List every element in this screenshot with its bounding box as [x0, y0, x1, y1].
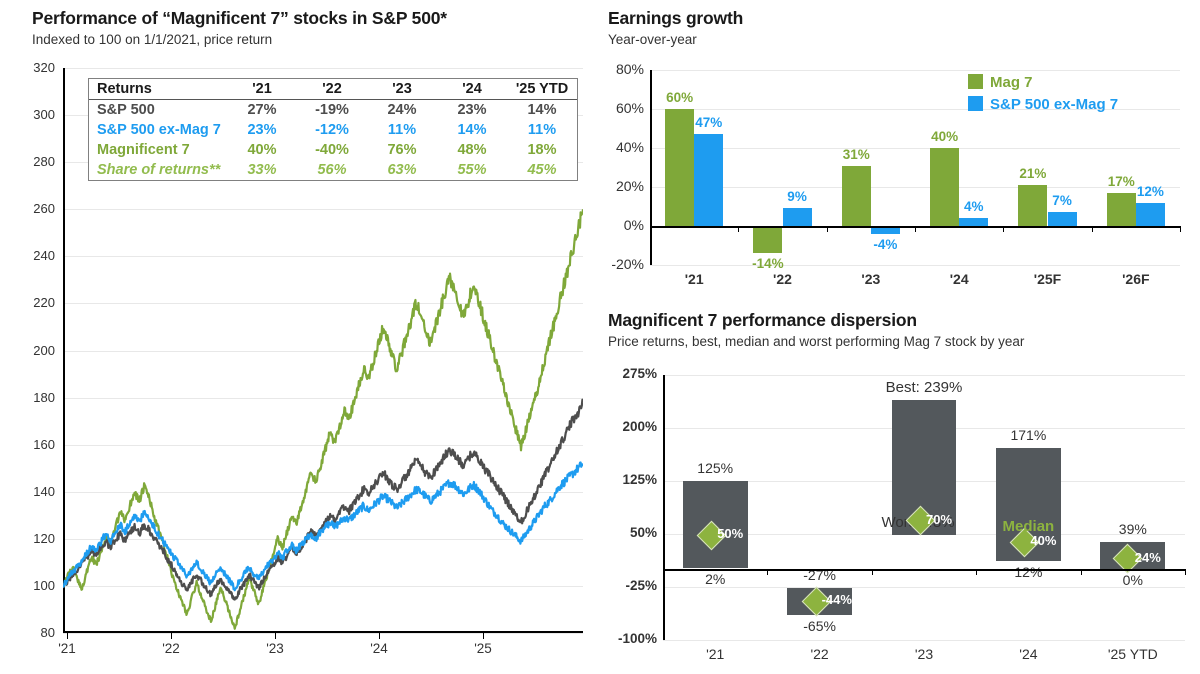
y-axis-tick-label: 60% [600, 100, 644, 116]
best-value-label: Best: 239% [886, 379, 963, 396]
bar-value-label: 9% [787, 189, 807, 204]
y-axis-tick-label: -100% [605, 631, 657, 646]
x-axis-tick [379, 633, 380, 639]
bar-mag-7 [842, 166, 871, 226]
median-callout-label: Median [1003, 518, 1055, 535]
cell: -12% [297, 120, 367, 140]
bar-value-label: 7% [1052, 193, 1072, 208]
y-axis-tick-label: 80 [13, 625, 55, 640]
cell: 63% [367, 160, 437, 180]
y-axis-tick-label: 275% [605, 366, 657, 381]
col-header-21: '21 [227, 79, 297, 100]
cell: 23% [437, 100, 507, 121]
y-axis-tick-label: 20% [600, 178, 644, 194]
cell: 14% [507, 100, 577, 121]
cell: 18% [507, 140, 577, 160]
row-label-sp500: S&P 500 [89, 100, 227, 121]
best-value-label: 171% [1010, 427, 1046, 443]
bar-value-label: 40% [931, 129, 958, 144]
col-header-returns: Returns [89, 79, 227, 100]
best-value-label: 39% [1119, 521, 1147, 537]
y-axis-tick-label: 240 [13, 248, 55, 263]
row-label-magnificent-7: Magnificent 7 [89, 140, 227, 160]
bar-value-label: 31% [843, 147, 870, 162]
y-axis-tick-label: 50% [605, 525, 657, 540]
bar-value-label: -14% [752, 256, 784, 271]
x-axis-tick-label: '22 [773, 271, 792, 287]
cell: 24% [367, 100, 437, 121]
left-chart-subtitle: Indexed to 100 on 1/1/2021, price return [32, 32, 272, 47]
y-axis-tick-label: 320 [13, 60, 55, 75]
bar-s-p-500-ex-mag-7 [783, 208, 812, 226]
bar-value-label: 17% [1108, 174, 1135, 189]
x-axis-tick [1185, 569, 1186, 575]
table-row: Magnificent 7 40% -40% 76% 48% 18% [89, 140, 577, 160]
cell: 76% [367, 140, 437, 160]
earnings-chart-title: Earnings growth [608, 8, 743, 29]
y-gridline [63, 633, 583, 634]
worst-value-label: -65% [803, 618, 836, 634]
x-axis-tick-label: '22 [810, 646, 828, 662]
cell: 56% [297, 160, 367, 180]
x-axis-tick [483, 633, 484, 639]
row-label-sp500-ex-mag7: S&P 500 ex-Mag 7 [89, 120, 227, 140]
median-value-label: -44% [822, 592, 852, 607]
col-header-23: '23 [367, 79, 437, 100]
chart-legend: Mag 7S&P 500 ex-Mag 7 [968, 72, 1118, 116]
bar-mag-7 [930, 148, 959, 226]
median-value-label: 24% [1135, 550, 1161, 565]
y-axis-tick-label: 220 [13, 295, 55, 310]
y-gridline [650, 265, 1180, 266]
bar-value-label: 4% [964, 199, 984, 214]
legend-swatch [968, 96, 983, 111]
worst-value-label: 0% [1123, 572, 1143, 588]
bar-s-p-500-ex-mag-7 [959, 218, 988, 226]
y-gridline [663, 587, 1185, 588]
dispersion-panel: Magnificent 7 performance dispersion Pri… [600, 300, 1200, 674]
earnings-growth-plot: -20%0%20%40%60%80%'2160%47%'22-14%9%'233… [650, 70, 1180, 265]
legend-label: Mag 7 [990, 74, 1033, 91]
x-axis-tick-label: '25 [474, 641, 492, 656]
earnings-chart-subtitle: Year-over-year [608, 32, 697, 47]
cell: 11% [367, 120, 437, 140]
x-axis-tick-label: '24 [370, 641, 388, 656]
y-axis-tick-label: 0% [600, 217, 644, 233]
y-axis-tick-label: 140 [13, 484, 55, 499]
col-header-24: '24 [437, 79, 507, 100]
cell: -40% [297, 140, 367, 160]
x-axis-tick [1180, 226, 1181, 232]
cell: 14% [437, 120, 507, 140]
y-axis-tick-label: 100 [13, 578, 55, 593]
x-axis-tick-label: '22 [162, 641, 180, 656]
bar-mag-7 [665, 109, 694, 226]
cell: 40% [227, 140, 297, 160]
col-header-22: '22 [297, 79, 367, 100]
y-axis-tick-label: 300 [13, 107, 55, 122]
cell: 11% [507, 120, 577, 140]
cell: 27% [227, 100, 297, 121]
legend-item: Mag 7 [968, 72, 1118, 94]
x-axis-tick-label: '25 YTD [1108, 646, 1158, 662]
bar-value-label: 60% [666, 90, 693, 105]
cell: 48% [437, 140, 507, 160]
y-gridline [650, 70, 1180, 71]
bar-value-label: 12% [1137, 184, 1164, 199]
left-chart-title: Performance of “Magnificent 7” stocks in… [32, 8, 447, 29]
x-axis-tick-label: '23 [266, 641, 284, 656]
legend-item: S&P 500 ex-Mag 7 [968, 94, 1118, 116]
y-axis-tick-label: -25% [605, 578, 657, 593]
bar-s-p-500-ex-mag-7 [694, 134, 723, 226]
bar-s-p-500-ex-mag-7 [1048, 212, 1077, 226]
x-axis-tick-label: '21 [685, 271, 704, 287]
earnings-growth-panel: Earnings growth Year-over-year -20%0%20%… [600, 0, 1200, 300]
x-axis-tick-label: '21 [706, 646, 724, 662]
y-axis-tick-label: -20% [600, 256, 644, 272]
median-value-label: 70% [926, 512, 952, 527]
y-gridline [650, 226, 1180, 228]
y-gridline [650, 187, 1180, 188]
x-axis-tick-label: '23 [861, 271, 880, 287]
table-row: S&P 500 ex-Mag 7 23% -12% 11% 14% 11% [89, 120, 577, 140]
y-axis-tick-label: 120 [13, 531, 55, 546]
table-row: S&P 500 27% -19% 24% 23% 14% [89, 100, 577, 121]
bar-value-label: 21% [1019, 166, 1046, 181]
cell: 55% [437, 160, 507, 180]
row-label-share-of-returns: Share of returns** [89, 160, 227, 180]
y-axis-line [650, 70, 652, 265]
x-axis-tick [171, 633, 172, 639]
x-axis-tick-label: '21 [58, 641, 76, 656]
bar-mag-7 [753, 226, 782, 253]
x-axis-tick-label: '25F [1034, 271, 1061, 287]
col-header-25ytd: '25 YTD [507, 79, 577, 100]
y-gridline [663, 375, 1185, 376]
bar-s-p-500-ex-mag-7 [1136, 203, 1165, 226]
y-axis-tick-label: 200% [605, 419, 657, 434]
cell: -19% [297, 100, 367, 121]
y-axis-tick-label: 80% [600, 61, 644, 77]
line-magnificent-7 [63, 209, 583, 629]
bar-mag-7 [1107, 193, 1136, 226]
y-axis-tick-label: 125% [605, 472, 657, 487]
x-axis-tick-label: '24 [1019, 646, 1037, 662]
y-axis-line [663, 375, 665, 640]
performance-index-panel: Performance of “Magnificent 7” stocks in… [0, 0, 600, 674]
y-axis-tick-label: 180 [13, 390, 55, 405]
median-value-label: 50% [717, 526, 743, 541]
cell: 45% [507, 160, 577, 180]
y-gridline [650, 148, 1180, 149]
y-axis-tick-label: 160 [13, 437, 55, 452]
returns-table: Returns '21 '22 '23 '24 '25 YTD S&P 500 … [88, 78, 578, 181]
best-value-label: 125% [697, 460, 733, 476]
x-axis-tick [67, 633, 68, 639]
zero-line [663, 569, 1185, 571]
table-header-row: Returns '21 '22 '23 '24 '25 YTD [89, 79, 577, 100]
x-axis-tick-label: '26F [1122, 271, 1149, 287]
y-axis-tick-label: 280 [13, 154, 55, 169]
legend-label: S&P 500 ex-Mag 7 [990, 96, 1118, 113]
legend-swatch [968, 74, 983, 89]
y-gridline [663, 640, 1185, 641]
worst-value-label: 2% [705, 571, 725, 587]
y-axis-tick-label: 200 [13, 343, 55, 358]
x-axis-tick-label: '23 [915, 646, 933, 662]
bar-mag-7 [1018, 185, 1047, 226]
cell: 33% [227, 160, 297, 180]
bar-value-label: 47% [695, 115, 722, 130]
dispersion-chart-title: Magnificent 7 performance dispersion [608, 310, 917, 331]
x-axis-tick [275, 633, 276, 639]
dispersion-chart-subtitle: Price returns, best, median and worst pe… [608, 334, 1024, 349]
x-axis-tick-label: '24 [950, 271, 969, 287]
table-row: Share of returns** 33% 56% 63% 55% 45% [89, 160, 577, 180]
worst-value-label: 12% [1014, 564, 1042, 580]
y-axis-tick-label: 40% [600, 139, 644, 155]
y-axis-tick-label: 260 [13, 201, 55, 216]
dispersion-plot: -100%-25%50%125%200%275%'21125%2%50%'22-… [663, 375, 1185, 640]
cell: 23% [227, 120, 297, 140]
bar-value-label: -4% [873, 237, 897, 252]
